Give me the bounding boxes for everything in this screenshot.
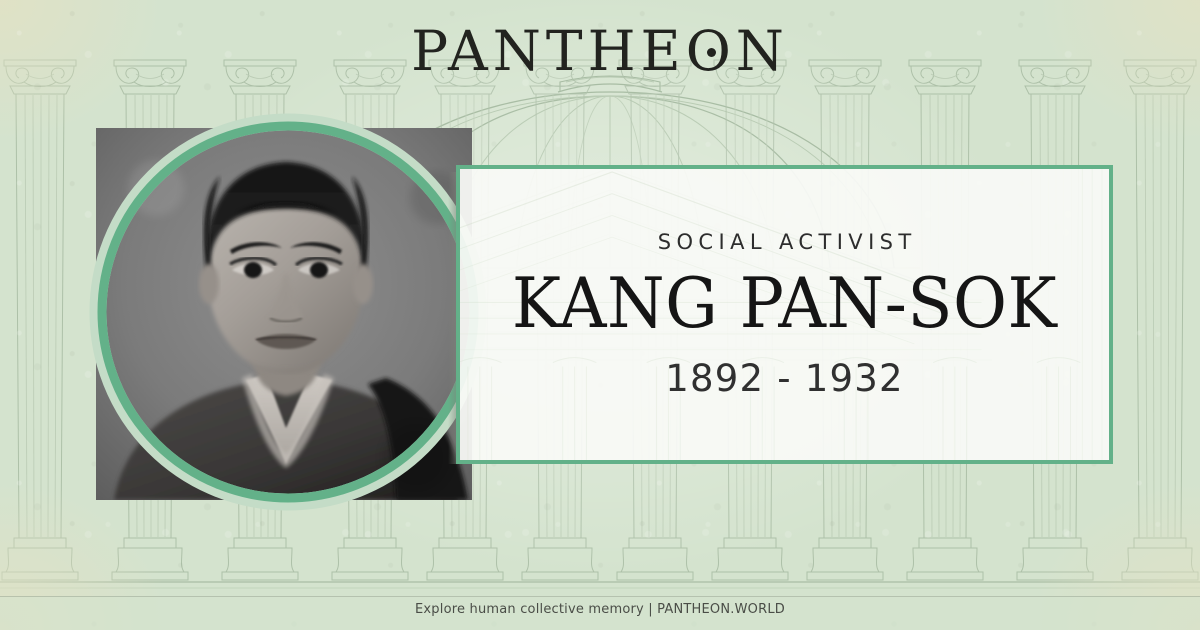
footer-tagline: Explore human collective memory | PANTHE…	[0, 603, 1200, 616]
portrait-group	[88, 112, 488, 512]
pantheon-profile-card: PANTHEON	[0, 0, 1200, 630]
brand-title-part-after: N	[736, 19, 789, 83]
life-years: 1892 - 1932	[665, 360, 903, 397]
brand-dot	[707, 48, 716, 57]
info-card: SOCIAL ACTIVIST KANG PAN-SOK 1892 - 1932	[456, 165, 1113, 464]
portrait-ring-icon	[88, 112, 488, 512]
brand-dotted-o-icon: O	[686, 24, 736, 79]
person-name: KANG PAN-SOK	[512, 269, 1057, 339]
ionic-column-icon	[2, 60, 78, 580]
occupation-label: SOCIAL ACTIVIST	[652, 232, 916, 253]
brand-title-part-before: PANTHE	[411, 19, 686, 83]
brand-title: PANTHEON	[0, 24, 1200, 79]
ionic-column-icon	[1122, 60, 1198, 580]
info-card-text-block: SOCIAL ACTIVIST KANG PAN-SOK 1892 - 1932	[460, 169, 1109, 460]
